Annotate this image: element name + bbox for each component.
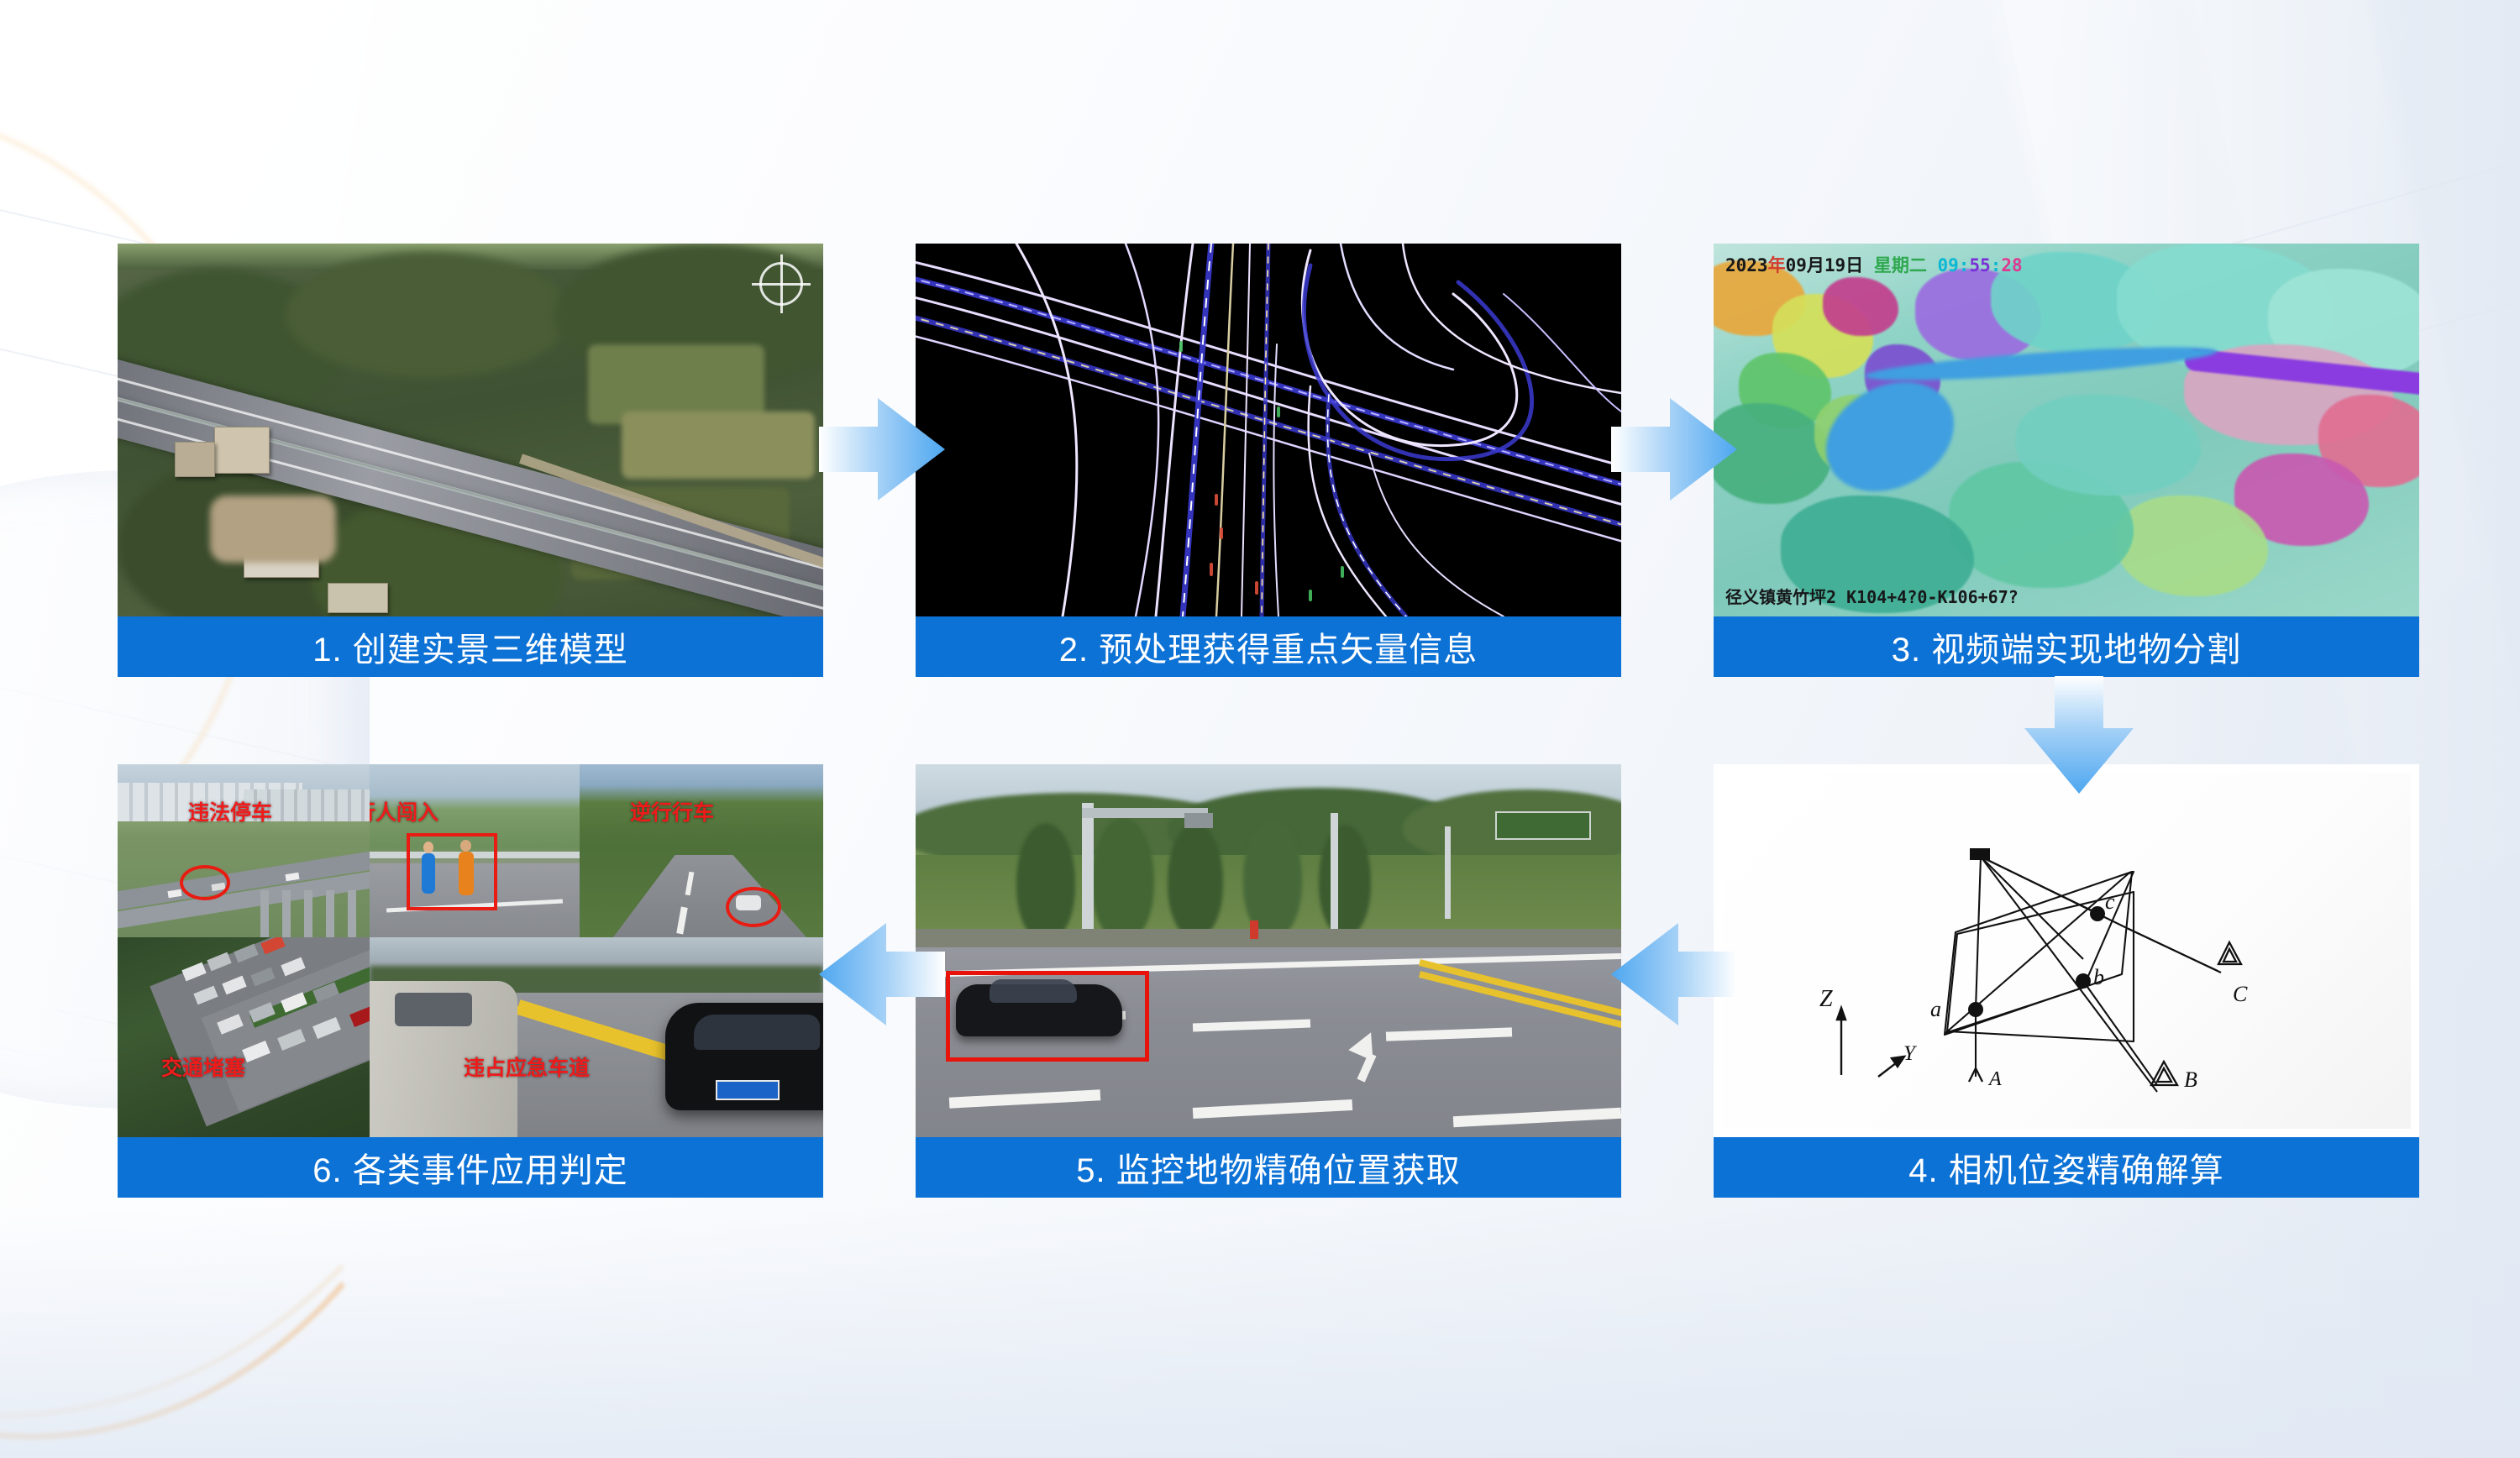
arrow-step5-to-step6 [819,911,945,1037]
camera-housing [1184,813,1213,828]
image-point-label-b: b [2093,965,2104,989]
aerial-3d-model-thumbnail [118,244,823,616]
roadside-tree [1243,820,1302,937]
vector-interchange-thumbnail [916,244,1621,616]
camera-station-marker [1970,848,1990,860]
vegetation-blob [286,252,571,378]
image-point-label-c: c [2105,889,2115,914]
step-card-3[interactable]: 2023年09月19日 星期二 09:55:28 径义镇黄竹坪2 K104+4?… [1714,244,2419,677]
event-label-pedestrian-intrusion: 行人闯入 [370,796,438,826]
step-card-5[interactable]: 5. 监控地物精确位置获取 [916,764,1621,1198]
osd-month-unit: 月 [1807,255,1824,275]
step-caption-5: 5. 监控地物精确位置获取 [916,1137,1621,1198]
osd-hour: 09 [1937,255,1958,275]
osd-minute: 55 [1969,255,1990,275]
light-pole [1331,813,1338,939]
vehicle-detection-box[interactable] [946,971,1149,1062]
step-caption-1: 1. 创建实景三维模型 [118,616,823,677]
van-window [395,993,472,1026]
ground-point-label-B: B [2184,1067,2197,1092]
building [175,442,215,477]
event-label-emergency-lane-misuse: 违占应急车道 [464,1052,590,1082]
suv-window [694,1015,820,1050]
image-point-c [2090,906,2105,921]
resection-geometry-svg: Z Y a b c A B C [1714,764,2419,1137]
arrow-step2-to-step3 [1611,386,1737,512]
segment-region [1823,277,1898,336]
roadside-tree [1168,823,1223,937]
osd-month: 09 [1786,255,1807,275]
building [328,583,388,613]
roadside-tree [1319,825,1371,936]
roadside-tree [1016,823,1075,941]
ground-point-label-A: A [1987,1068,2002,1090]
osd-location: 径义镇黄竹坪2 K104+4?0-K106+67? [1725,584,2019,608]
image-point-b [2076,973,2091,989]
osd-day-unit: 日 [1845,255,1863,275]
wrong-way-highlight [726,887,781,927]
segment-river [1807,360,1973,512]
arrow-step3-to-step4 [2016,676,2142,794]
event-mosaic-thumbnail: 违法停车 行人闯入 [118,764,823,1137]
event-tile-pedestrian-intrusion[interactable]: 行人闯入 [370,764,580,937]
camera-pose-diagram-thumbnail: Z Y a b c A B C [1714,764,2419,1137]
farm-field [622,412,815,479]
compass-widget[interactable] [759,262,803,306]
image-point-a [1968,1002,1983,1017]
viaduct-piers [260,890,370,937]
ground-point-label-C: C [2233,982,2248,1006]
event-label-traffic-congestion: 交通堵塞 [161,1052,245,1082]
axis-label-Y: Y [1903,1042,1918,1065]
illegal-parking-highlight [180,865,230,900]
axis-label-Z: Z [1819,986,1833,1012]
step-card-1[interactable]: 1. 创建实景三维模型 [118,244,823,677]
arrow-step1-to-step2 [819,386,945,512]
light-pole [1445,826,1451,919]
step-card-6[interactable]: 违法停车 行人闯入 [118,764,823,1198]
image-point-label-a: a [1930,997,1941,1021]
building [214,427,270,474]
osd-day: 19 [1824,255,1845,275]
osd-weekday: 星期二 [1874,255,1927,275]
step-caption-6: 6. 各类事件应用判定 [118,1137,823,1198]
osd-timestamp: 2023年09月19日 星期二 09:55:28 [1725,252,2023,277]
osd-stake-range: K104+4?0-K106+67? [1846,587,2019,607]
step-caption-3: 3. 视频端实现地物分割 [1714,616,2419,677]
overhead-sign [1495,811,1591,840]
step-card-4[interactable]: Z Y a b c A B C 4. 相机位姿精确解算 [1714,764,2419,1198]
event-tile-illegal-parking[interactable]: 违法停车 [118,764,370,937]
osd-date-year: 2023 [1725,255,1768,275]
semantic-segmentation-thumbnail: 2023年09月19日 星期二 09:55:28 径义镇黄竹坪2 K104+4?… [1714,244,2419,616]
event-label-illegal-parking: 违法停车 [188,796,272,826]
event-tile-emergency-lane-misuse[interactable]: 违占应急车道 [370,937,823,1137]
road-shoulder [916,929,1621,947]
osd-location-name: 径义镇黄竹坪2 [1725,587,1836,607]
roadside-tree [1092,818,1154,941]
event-label-wrong-way-driving: 逆行行车 [630,796,714,826]
road-vector-lines [916,244,1621,616]
arrow-step4-to-step5 [1611,911,1737,1037]
roadside-camera-thumbnail [916,764,1621,1137]
osd-year-unit: 年 [1768,255,1786,275]
step-caption-4: 4. 相机位姿精确解算 [1714,1137,2419,1198]
license-plate [716,1080,780,1100]
bare-ground-patch [210,496,336,563]
roadside-marker [1250,920,1258,939]
segment-region [2016,395,2201,496]
step-card-2[interactable]: 2. 预处理获得重点矢量信息 [916,244,1621,677]
step-caption-2: 2. 预处理获得重点矢量信息 [916,616,1621,677]
pedestrian-intrusion-box [407,833,497,910]
event-tile-wrong-way-driving[interactable]: 逆行行车 [580,764,823,937]
osd-second: 28 [2001,255,2022,275]
